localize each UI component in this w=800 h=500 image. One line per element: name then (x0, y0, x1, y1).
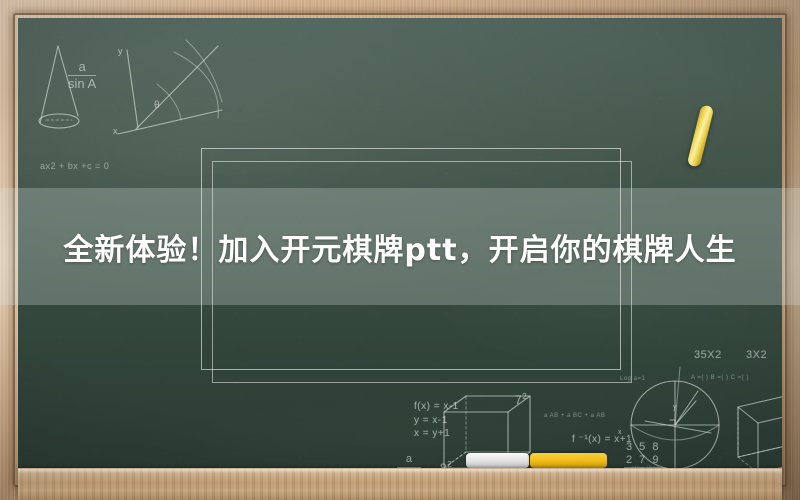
chalkboard-banner: a sin A y x θ ax2 + bx +c = 0 f(x) = x-1… (0, 0, 800, 500)
yellow-chalk-piece (530, 453, 607, 468)
fraction-bar (68, 75, 96, 76)
chalk-label-mult-a: 35X2 (694, 349, 722, 361)
chalk-label-seven-squared: 72 (515, 392, 527, 407)
chalk-label-axis-x: x (113, 126, 118, 136)
chalk-fraction-a-sinA: a sin A (68, 60, 96, 90)
chalk-label-axis-y: y (118, 46, 123, 56)
white-chalk-piece (466, 453, 529, 468)
chalk-label-sum-bottom: 2 7 9 (626, 454, 660, 466)
top-left-chalk-svg (26, 28, 246, 158)
page-title: 全新体验！加入开元棋牌ptt，开启你的棋牌人生 (0, 188, 800, 305)
chalk-label-br-axis-x: x (618, 429, 622, 436)
chalk-ledge (18, 468, 782, 500)
ledge-highlight (18, 469, 782, 473)
chalk-label-theta: θ (154, 100, 160, 111)
fraction-numerator: a (397, 454, 421, 466)
chalk-label-quadratic: ax2 + bx +c = 0 (40, 161, 109, 171)
chalk-label-small-eq: a AB + a BC + a AB (544, 413, 605, 419)
chalk-label-y-eq: y = x-1 (414, 414, 459, 428)
seven-exponent: 2 (522, 392, 527, 401)
chalk-label-br-axis-y: y (673, 404, 677, 411)
chalk-label-inverse-fn: f ⁻¹(x) = x+1 (572, 434, 632, 445)
chalk-label-x-eq: x = y+1 (414, 427, 459, 441)
chalk-label-fx: f(x) = x-1 (414, 400, 459, 414)
chalk-label-eight-squared: 82 (440, 460, 452, 468)
fraction-denominator: sin A (68, 77, 96, 91)
fraction-numerator: a (68, 60, 96, 74)
chalk-label-matrices: A =( ) B =( ) C =( ) (691, 375, 749, 381)
chalk-fraction-a-sinA-2: a sin A (397, 454, 421, 468)
chalk-fx-block: f(x) = x-1 y = x-1 x = y+1 (414, 400, 459, 441)
chalk-label-sum-top: 3 5 8 (626, 441, 660, 453)
eight-exponent: 2 (447, 460, 452, 468)
chalk-label-mult-b: 3X2 (746, 349, 767, 361)
